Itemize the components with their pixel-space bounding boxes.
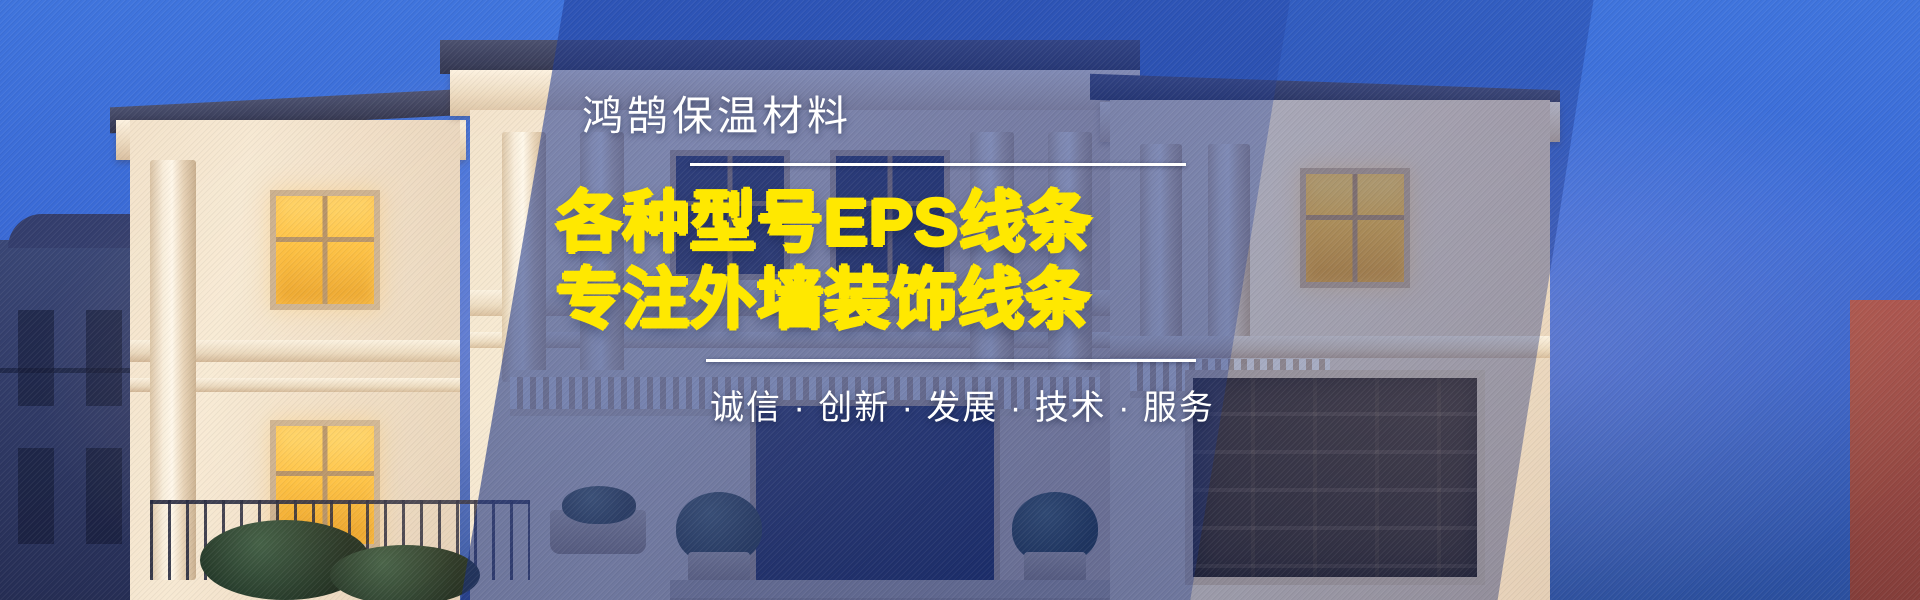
tagline-block: 诚信 · 创新 · 发展 · 技术 · 服务 [566, 359, 1306, 429]
background-tower [1850, 300, 1920, 600]
banner-copy: 鸿鹄保温材料 各种型号EPS线条 专注外墙装饰线条 诚信 · 创新 · 发展 ·… [566, 96, 1306, 429]
divider-top [690, 163, 1186, 166]
headline-block: 各种型号EPS线条 专注外墙装饰线条 [566, 184, 1306, 337]
villa-entrance-door [750, 400, 1000, 600]
divider-bottom [706, 359, 1196, 362]
brand-name: 鸿鹄保温材料 [566, 96, 1306, 137]
headline-line-1: 各种型号EPS线条 [556, 184, 1306, 261]
tagline: 诚信 · 创新 · 发展 · 技术 · 服务 [566, 380, 1306, 429]
headline-line-2: 专注外墙装饰线条 [556, 261, 1306, 338]
hero-banner: 鸿鹄保温材料 各种型号EPS线条 专注外墙装饰线条 诚信 · 创新 · 发展 ·… [0, 0, 1920, 600]
foreground-bush [330, 545, 480, 600]
